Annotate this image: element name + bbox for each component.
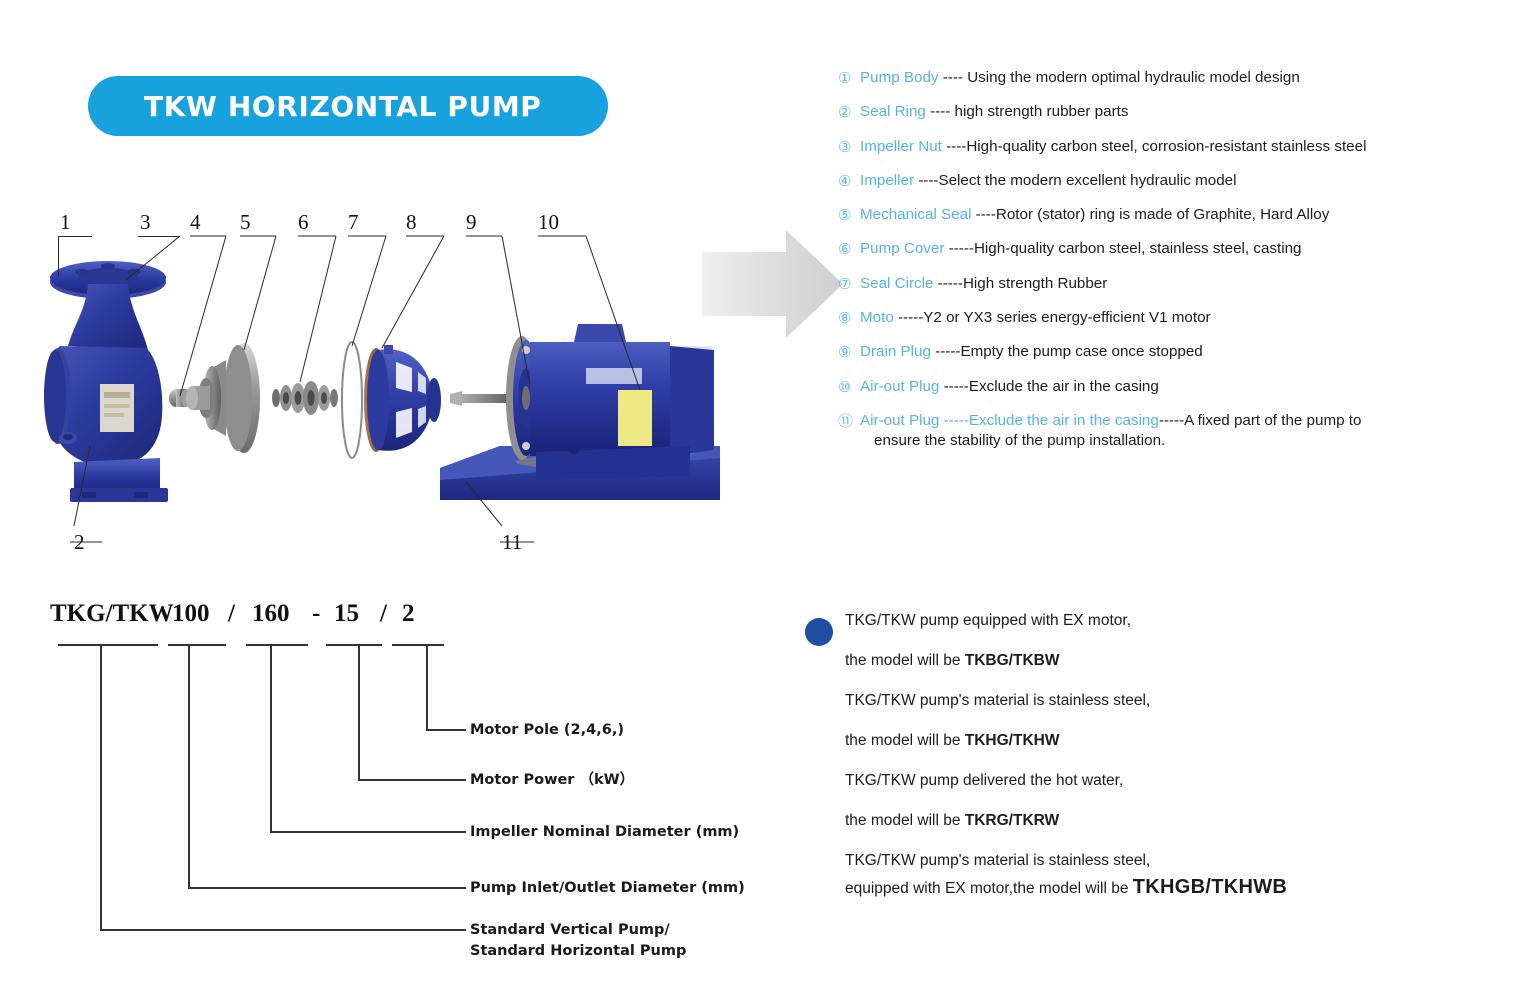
code-underline-series (58, 644, 158, 646)
note-line-4-prefix: the model will be (845, 732, 965, 749)
exploded-view-diagram: 1 3 4 5 6 7 8 9 10 2 11 (30, 200, 720, 580)
legend-dash-6: ----- (944, 240, 974, 257)
code-label-impeller-diameter: Impeller Nominal Diameter (mm) (470, 822, 739, 843)
code-token-inlet: 100 (172, 600, 210, 628)
note-line-3: TKG/TKW pump's material is stainless ste… (845, 692, 1445, 710)
legend-item-1: ① Pump Body ---- Using the modern optima… (838, 68, 1498, 89)
code-drop-pole (426, 644, 428, 730)
legend-number-2: ② (838, 102, 860, 123)
legend-label-2: Seal Ring (860, 103, 926, 120)
legend-dash-7: ----- (933, 275, 963, 292)
legend-label-11: Air-out Plug (860, 412, 939, 429)
callout-number-2: 2 (74, 530, 85, 555)
legend-text-2: Seal Ring ---- high strength rubber part… (860, 102, 1498, 122)
legend-number-7: ⑦ (838, 274, 860, 295)
legend-text-4: Impeller ----Select the modern excellent… (860, 171, 1498, 191)
legend-desc-8: Y2 or YX3 series energy-efficient V1 mot… (923, 309, 1210, 326)
code-underline-pole (392, 644, 444, 646)
legend-item-3: ③ Impeller Nut ----High-quality carbon s… (838, 137, 1498, 158)
legend-desc-3: High-quality carbon steel, corrosion-res… (966, 138, 1366, 155)
legend-item-2: ② Seal Ring ---- high strength rubber pa… (838, 102, 1498, 123)
code-token-power: 15 (334, 600, 359, 628)
legend-text-1: Pump Body ---- Using the modern optimal … (860, 68, 1498, 88)
legend-text-10: Air-out Plug -----Exclude the air in the… (860, 377, 1498, 397)
legend-label-6: Pump Cover (860, 240, 944, 257)
callout-number-7: 7 (348, 210, 359, 235)
legend-desc-6: High-quality carbon steel, stainless ste… (974, 240, 1302, 257)
legend-item-10: ⑩ Air-out Plug -----Exclude the air in t… (838, 377, 1498, 398)
pump-parts-illustration (30, 200, 720, 580)
legend-item-7: ⑦ Seal Circle -----High strength Rubber (838, 274, 1498, 295)
legend-text-6: Pump Cover -----High-quality carbon stee… (860, 239, 1498, 259)
legend-label-7: Seal Circle (860, 275, 933, 292)
code-token-slash-1: / (228, 600, 235, 628)
legend-desc-11: -----A fixed part of the pump to (1159, 412, 1362, 429)
note-line-8: equipped with EX motor,the model will be… (845, 876, 1445, 899)
note-line-6: the model will be TKRG/TKRW (845, 812, 1445, 830)
code-run-power (358, 779, 466, 781)
legend-desc-9: Empty the pump case once stopped (960, 343, 1202, 360)
note-line-2: the model will be TKBG/TKBW (845, 652, 1445, 670)
legend-desc-4: Select the modern excellent hydraulic mo… (938, 172, 1236, 189)
legend-item-9: ⑨ Drain Plug -----Empty the pump case on… (838, 342, 1498, 363)
code-label-inlet-outlet: Pump Inlet/Outlet Diameter (mm) (470, 878, 745, 899)
legend-desc-2: high strength rubber parts (955, 103, 1129, 120)
model-variant-notes: TKG/TKW pump equipped with EX motor, the… (845, 612, 1445, 921)
code-label-motor-pole: Motor Pole (2,4,6,) (470, 720, 624, 741)
leader-3-tick (138, 236, 180, 237)
legend-label-4: Impeller (860, 172, 914, 189)
model-code-breakdown: TKG/TKW 100 / 160 - 15 / 2 Motor Pole (2… (40, 600, 740, 980)
code-label-standard-pump-line2: Standard Horizontal Pump (470, 941, 686, 962)
note-line-2-model: TKBG/TKBW (965, 652, 1060, 669)
legend-text-7: Seal Circle -----High strength Rubber (860, 274, 1498, 294)
legend-text-8: Moto -----Y2 or YX3 series energy-effici… (860, 308, 1498, 328)
legend-item-11: ⑪ Air-out Plug -----Exclude the air in t… (838, 411, 1498, 451)
legend-label-9: Drain Plug (860, 343, 931, 360)
legend-label-3: Impeller Nut (860, 138, 942, 155)
legend-number-3: ③ (838, 137, 860, 158)
legend-number-5: ⑤ (838, 205, 860, 226)
note-line-7: TKG/TKW pump's material is stainless ste… (845, 852, 1445, 870)
callout-number-1: 1 (60, 210, 71, 235)
code-token-slash-2: / (380, 600, 387, 628)
legend-item-6: ⑥ Pump Cover -----High-quality carbon st… (838, 239, 1498, 260)
legend-dash-2: ---- (926, 103, 955, 120)
legend-text-9: Drain Plug -----Empty the pump case once… (860, 342, 1498, 362)
legend-dash-3: ---- (942, 138, 966, 155)
note-line-4-model: TKHG/TKHW (965, 732, 1060, 749)
legend-dash-9: ----- (931, 343, 961, 360)
code-token-dash: - (312, 600, 320, 628)
code-drop-power (358, 644, 360, 780)
legend-dash-11: ----- (939, 412, 969, 429)
callout-number-4: 4 (190, 210, 201, 235)
code-drop-impeller (270, 644, 272, 832)
legend-number-8: ⑧ (838, 308, 860, 329)
note-line-8-prefix: equipped with EX motor,the model will be (845, 880, 1133, 897)
legend-blue-desc-11: Exclude the air in the casing (969, 412, 1159, 429)
legend-number-1: ① (838, 68, 860, 89)
callout-number-5: 5 (240, 210, 251, 235)
bullet-dot-icon (805, 618, 833, 646)
legend-dash-8: ----- (894, 309, 924, 326)
code-label-standard-pump-line1: Standard Vertical Pump/ (470, 920, 670, 941)
legend-dash-5: ---- (971, 206, 995, 223)
title-banner: TKW HORIZONTAL PUMP (88, 76, 608, 136)
note-line-5: TKG/TKW pump delivered the hot water, (845, 772, 1445, 790)
note-line-6-model: TKRG/TKRW (965, 812, 1059, 829)
legend-desc-1: Using the modern optimal hydraulic model… (967, 69, 1300, 86)
code-run-series (100, 929, 466, 931)
legend-label-10: Air-out Plug (860, 378, 939, 395)
legend-label-1: Pump Body (860, 69, 939, 86)
legend-desc-7: High strength Rubber (963, 275, 1107, 292)
legend-item-4: ④ Impeller ----Select the modern excelle… (838, 171, 1498, 192)
note-line-6-prefix: the model will be (845, 812, 965, 829)
callout-number-3: 3 (140, 210, 151, 235)
legend-number-4: ④ (838, 171, 860, 192)
code-drop-series (100, 644, 102, 930)
note-line-1: TKG/TKW pump equipped with EX motor, (845, 612, 1445, 630)
code-run-pole (426, 729, 466, 731)
note-line-2-prefix: the model will be (845, 652, 965, 669)
legend-label-5: Mechanical Seal (860, 206, 971, 223)
callout-number-10: 10 (538, 210, 559, 235)
legend-item-8: ⑧ Moto -----Y2 or YX3 series energy-effi… (838, 308, 1498, 329)
code-token-series: TKG/TKW (50, 600, 174, 628)
code-token-pole: 2 (402, 600, 415, 628)
page-title: TKW HORIZONTAL PUMP (144, 90, 541, 123)
code-run-inlet (188, 887, 466, 889)
legend-dash-4: ---- (914, 172, 938, 189)
callout-number-11: 11 (502, 530, 522, 555)
callout-number-9: 9 (466, 210, 477, 235)
code-label-motor-power: Motor Power （kW） (470, 770, 634, 791)
parts-legend-list: ① Pump Body ---- Using the modern optima… (838, 68, 1498, 465)
legend-text-3: Impeller Nut ----High-quality carbon ste… (860, 137, 1498, 157)
legend-dash-1: ---- (939, 69, 968, 86)
callout-number-8: 8 (406, 210, 417, 235)
code-drop-inlet (188, 644, 190, 888)
legend-number-6: ⑥ (838, 239, 860, 260)
product-spec-sheet: TKW HORIZONTAL PUMP (0, 0, 1513, 1000)
legend-number-9: ⑨ (838, 342, 860, 363)
legend-item-5: ⑤ Mechanical Seal ----Rotor (stator) rin… (838, 205, 1498, 226)
legend-continuation-11: ensure the stability of the pump install… (860, 431, 1498, 451)
legend-desc-5: Rotor (stator) ring is made of Graphite,… (996, 206, 1329, 223)
code-underline-inlet (168, 644, 226, 646)
leader-1-tick (58, 236, 92, 237)
legend-dash-10: ----- (939, 378, 969, 395)
note-line-4: the model will be TKHG/TKHW (845, 732, 1445, 750)
code-underline-impeller (246, 644, 308, 646)
legend-desc-10: Exclude the air in the casing (969, 378, 1159, 395)
legend-number-10: ⑩ (838, 377, 860, 398)
legend-text-5: Mechanical Seal ----Rotor (stator) ring … (860, 205, 1498, 225)
note-line-8-model: TKHGB/TKHWB (1133, 876, 1287, 898)
leader-1-drop (58, 236, 59, 276)
code-underline-power (326, 644, 382, 646)
legend-text-11: Air-out Plug -----Exclude the air in the… (860, 411, 1498, 451)
legend-label-8: Moto (860, 309, 894, 326)
code-token-impeller: 160 (252, 600, 290, 628)
legend-number-11: ⑪ (838, 411, 860, 432)
flow-arrow (700, 228, 845, 340)
callout-number-6: 6 (298, 210, 309, 235)
code-run-impeller (270, 831, 466, 833)
